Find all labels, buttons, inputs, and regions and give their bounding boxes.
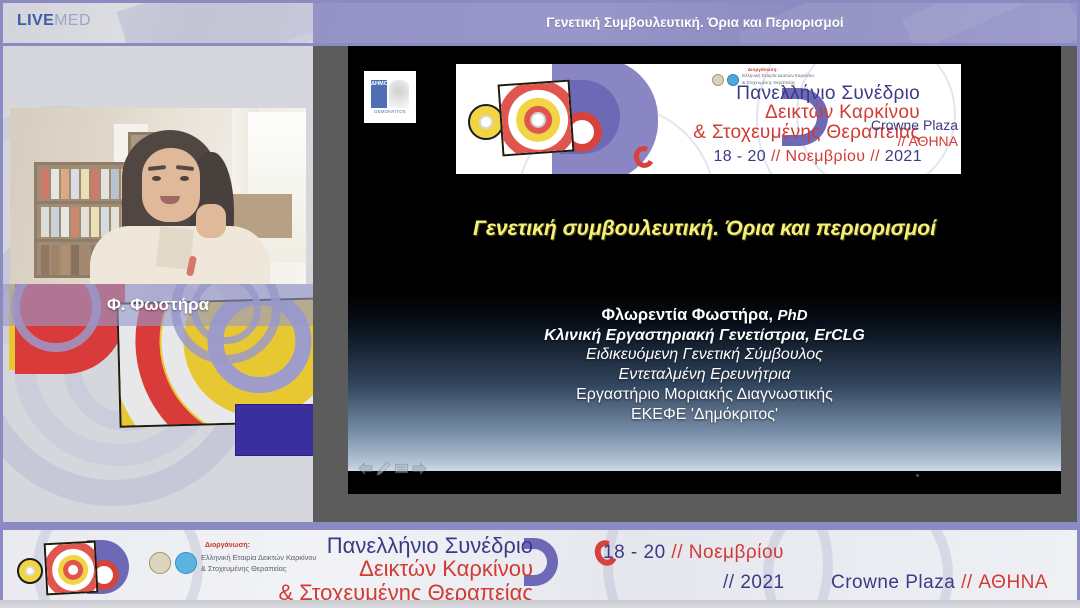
footer-bar: Διοργάνωση: Ελληνική Εταιρία Δεικτών Καρ… [0, 522, 1080, 608]
footer-title-line-1: Πανελλήνιο Συνέδριο [233, 534, 533, 557]
demokritos-caption: DEMOKRITOS [374, 109, 405, 114]
top-bar: LIVEMED Γενετική Συμβουλευτική. Όρια και… [0, 0, 1080, 46]
speaker-name-bar: Φ. Φωστήρα [3, 284, 313, 326]
livemed-logo[interactable]: LIVEMED [17, 12, 91, 30]
brand-live-text: LIVE [17, 12, 54, 29]
footer-date: 18 - 20 // Νοεμβρίου [603, 542, 784, 564]
session-title-bar: Γενετική Συμβουλευτική. Όρια και Περιορι… [313, 3, 1077, 43]
arrow-left-icon[interactable] [358, 461, 373, 476]
slide-author-block: Φλωρεντία Φωστήρα, PhD Κλινική Εργαστηρι… [348, 293, 1061, 471]
footer-month: Νοεμβρίου [689, 542, 784, 563]
banner-venue-name: Crowne Plaza [860, 118, 958, 134]
demokritos-logo: ΔΗΜΟΚΡΙΤΟΣ DEMOKRITOS [364, 71, 416, 123]
slide-stage: ΔΗΜΟΚΡΙΤΟΣ DEMOKRITOS [313, 46, 1077, 522]
demokritos-bust-icon [389, 80, 409, 108]
footer-city: // ΑΘΗΝΑ [961, 572, 1048, 593]
speaker-video[interactable] [10, 108, 306, 284]
organizer-line-1: Ελληνική Εταιρία Δεικτών Καρκίνου [742, 73, 814, 78]
banner-venue: Crowne Plaza // ΑΘΗΝΑ [860, 118, 958, 149]
slide-marker-dot [916, 474, 919, 477]
banner-month: Νοεμβρίου [785, 148, 865, 165]
footer-organizer-logo-icon [149, 552, 171, 574]
footer-venue-name: Crowne Plaza [831, 572, 961, 593]
banner-sep-1: // [766, 148, 785, 165]
footer-days: 18 - 20 [603, 542, 666, 563]
bottom-edge [0, 600, 1080, 608]
slide-navigation-controls[interactable] [358, 461, 427, 476]
footer-year: // 2021 [723, 572, 785, 594]
banner-title-line-1: Πανελλήνιο Συνέδριο [632, 84, 920, 103]
author-affiliation-2: ΕΚΕΦΕ 'Δημόκριτος' [348, 405, 1061, 425]
brand-med-text: MED [54, 12, 91, 29]
organizer-label: Διοργάνωση: [668, 67, 858, 72]
author-name: Φλωρεντία Φωστήρα, [601, 306, 777, 324]
banner-city: // ΑΘΗΝΑ [860, 134, 958, 150]
slide-frame[interactable]: ΔΗΜΟΚΡΙΤΟΣ DEMOKRITOS [348, 46, 1061, 494]
footer-venue: Crowne Plaza // ΑΘΗΝΑ [831, 572, 1048, 594]
arrow-right-icon[interactable] [412, 461, 427, 476]
footer-conference-emblem-icon [11, 538, 131, 598]
footer-organizer-logo-icon [175, 552, 197, 574]
slide-menu-icon[interactable] [394, 461, 409, 476]
brand-panel: LIVEMED [3, 3, 313, 43]
author-name-line: Φλωρεντία Φωστήρα, PhD [348, 305, 1061, 326]
banner-days: 18 - 20 [713, 148, 766, 165]
author-affiliation-1: Εργαστήριο Μοριακής Διαγνωστικής [348, 385, 1061, 405]
conference-footer: Διοργάνωση: Ελληνική Εταιρία Δεικτών Καρ… [3, 530, 1077, 605]
footer-title-line-2: Δεικτών Καρκίνου [233, 557, 533, 580]
slide-canvas: ΔΗΜΟΚΡΙΤΟΣ DEMOKRITOS [348, 57, 1061, 481]
author-role-1: Κλινική Εργαστηριακή Γενετίστρια, ErCLG [348, 326, 1061, 346]
speaker-name: Φ. Φωστήρα [107, 295, 209, 315]
author-role-3: Εντεταλμένη Ερευνήτρια [348, 365, 1061, 385]
author-role-2: Ειδικευόμενη Γενετική Σύμβουλος [348, 345, 1061, 365]
author-degree: PhD [778, 307, 808, 324]
video-haze [10, 108, 306, 284]
demokritos-glyph: ΔΗΜΟΚΡΙΤΟΣ [371, 80, 387, 108]
pen-icon[interactable] [376, 461, 391, 476]
banner-date: 18 - 20 // Νοεμβρίου // 2021 [632, 148, 922, 166]
app-root: LIVEMED Γενετική Συμβουλευτική. Όρια και… [0, 0, 1080, 608]
banner-sep-2: // [865, 148, 884, 165]
slide-title: Γενετική συμβουλευτική. Όρια και περιορι… [348, 217, 1061, 241]
conference-emblem-icon [464, 76, 614, 166]
banner-year: 2021 [885, 148, 922, 165]
footer-title: Πανελλήνιο Συνέδριο Δεικτών Καρκίνου & Σ… [233, 534, 533, 604]
purple-shape [235, 404, 313, 456]
conference-banner: Διοργάνωση: Ελληνική Εταιρία Δεικτών Καρ… [456, 64, 961, 174]
session-title: Γενετική Συμβουλευτική. Όρια και Περιορι… [313, 3, 1077, 43]
speaker-panel: Φ. Φωστήρα [3, 46, 313, 522]
footer-sep: // [666, 542, 689, 563]
